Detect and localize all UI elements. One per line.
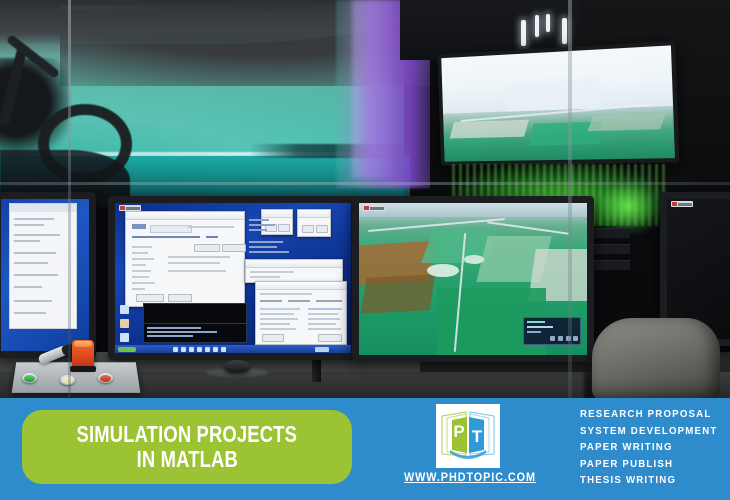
service-item-paper-writing: PAPER WRITING [580, 439, 718, 456]
desktop-text [249, 224, 275, 226]
left-desk-monitor: DELL [0, 192, 96, 358]
tree-item [132, 288, 145, 290]
text-line [168, 270, 226, 272]
text-line [14, 252, 56, 254]
phdtopic-logo: P T [436, 404, 500, 468]
text-line [14, 312, 46, 314]
left-monitor-window [9, 203, 77, 329]
start-button[interactable] [118, 347, 136, 352]
menu-item[interactable] [206, 236, 218, 238]
terminal-window [143, 303, 247, 325]
text-line [14, 300, 52, 302]
taskbar-item[interactable] [173, 347, 178, 352]
center-desk-monitor: DELL [108, 196, 358, 360]
window-titlebar [298, 210, 330, 218]
glass-partition-mullion [68, 0, 71, 400]
column-header [288, 300, 310, 302]
dialog-button[interactable] [222, 244, 246, 252]
dialog-button[interactable] [194, 244, 220, 252]
taskbar-item[interactable] [221, 347, 226, 352]
title-badge: SIMULATION PROJECTS IN MATLAB [22, 410, 352, 484]
app-window-main [125, 211, 245, 307]
dialog-title-text [260, 293, 312, 295]
text-line [168, 262, 220, 264]
glass-partition-rail [0, 182, 730, 185]
text-line [14, 286, 42, 288]
tree-item [132, 258, 154, 260]
svg-text:P: P [453, 422, 464, 441]
aerial-lake [427, 264, 459, 278]
text-line [14, 218, 54, 220]
desktop-text [249, 246, 277, 248]
table-row[interactable] [308, 328, 341, 330]
tree-item [132, 264, 146, 266]
table-row[interactable] [260, 323, 290, 325]
computer-mouse[interactable] [224, 360, 250, 373]
text-line [14, 240, 40, 242]
monitor-brand-label: DELL [463, 355, 482, 361]
aerial-lake [464, 255, 485, 264]
dialog-button[interactable] [316, 225, 328, 233]
system-tray[interactable] [315, 347, 329, 352]
taskbar-item[interactable] [213, 347, 218, 352]
text-line [250, 276, 280, 278]
hud-overlay-panel[interactable] [523, 317, 581, 345]
column-header [260, 300, 282, 302]
taskbar-item[interactable] [205, 347, 210, 352]
desktop-text [249, 241, 283, 243]
window-title-text [188, 226, 234, 228]
taskbar-item[interactable] [181, 347, 186, 352]
tree-item [132, 270, 151, 272]
monitor-sticker [119, 205, 141, 211]
cockpit-green-display-glow [600, 178, 662, 234]
taskbar-item[interactable] [189, 347, 194, 352]
text-line [14, 274, 58, 276]
toolbar-icon [132, 224, 146, 229]
text-line [250, 271, 294, 273]
tree-item [132, 276, 149, 278]
status-window [245, 259, 343, 283]
menu-bar [132, 236, 200, 238]
desktop-text [249, 219, 269, 221]
table-row[interactable] [260, 313, 294, 315]
desktop-icon[interactable] [120, 319, 129, 328]
lamp-icon [546, 14, 550, 32]
dialog-button[interactable] [136, 294, 164, 302]
wall-mounted-display [438, 41, 680, 166]
glass-partition-mullion [568, 0, 572, 400]
terminal-text [147, 335, 193, 337]
svg-text:T: T [472, 427, 483, 446]
table-row[interactable] [308, 313, 338, 315]
table-row[interactable] [260, 318, 298, 320]
desktop-icon[interactable] [120, 305, 129, 314]
text-line [14, 262, 48, 264]
aerial-road [487, 222, 569, 235]
hud-value [527, 326, 553, 328]
aerial-sky [359, 203, 587, 217]
text-line [14, 234, 60, 236]
hud-label [527, 321, 545, 323]
dialog-button[interactable] [168, 294, 192, 302]
aerial-field [360, 274, 435, 314]
column-header [316, 300, 342, 302]
dialog-button[interactable] [302, 225, 314, 233]
table-row[interactable] [260, 308, 300, 310]
search-input[interactable] [150, 225, 192, 233]
wall-monitor-field [588, 113, 666, 131]
bottom-banner: SIMULATION PROJECTS IN MATLAB P T [0, 398, 730, 500]
website-url-link[interactable]: WWW.PHDTOPIC.COM [395, 472, 545, 484]
window-titlebar [262, 210, 292, 218]
table-row[interactable] [308, 323, 336, 325]
hud-button[interactable] [558, 336, 563, 341]
emergency-stop-button[interactable] [72, 340, 94, 368]
service-item-research-proposal: RESEARCH PROPOSAL [580, 406, 718, 423]
dialog-window [297, 209, 331, 237]
tree-item [132, 282, 155, 284]
hud-button[interactable] [550, 336, 555, 341]
right-desk-monitor: DELL [352, 196, 594, 362]
table-row[interactable] [308, 308, 342, 310]
windows-taskbar[interactable] [115, 345, 351, 353]
window-titlebar [126, 212, 244, 220]
red-push-button[interactable] [98, 373, 113, 383]
right-monitor-screen [359, 203, 587, 355]
table-row[interactable] [308, 318, 340, 320]
window-titlebar [256, 282, 346, 290]
desktop-text [249, 251, 289, 253]
violet-light-core [352, 0, 394, 178]
center-monitor-screen [115, 203, 351, 353]
text-line [168, 256, 230, 258]
table-row[interactable] [260, 328, 296, 330]
terminal-window [143, 323, 247, 343]
lamp-icon [562, 18, 567, 44]
window-titlebar [10, 204, 76, 212]
left-monitor-screen [1, 199, 89, 351]
desktop-text [249, 229, 267, 231]
terminal-text [147, 331, 217, 333]
hud-button[interactable] [573, 336, 578, 341]
hud-value [527, 331, 541, 333]
monitor-sticker [671, 201, 693, 207]
title-line-1: SIMULATION PROJECTS [77, 422, 297, 447]
service-item-thesis-writing: THESIS WRITING [580, 472, 718, 489]
window-titlebar [246, 260, 342, 268]
dialog-button[interactable] [262, 334, 284, 342]
lamp-icon [535, 15, 539, 37]
services-list: RESEARCH PROPOSAL SYSTEM DEVELOPMENT PAP… [580, 406, 730, 489]
dialog-window [261, 209, 293, 235]
dialog-button[interactable] [318, 334, 342, 342]
tree-item [132, 252, 148, 254]
dialog-button[interactable] [278, 224, 290, 232]
green-push-button[interactable] [22, 373, 37, 383]
text-line [14, 224, 44, 226]
emergency-stop-cap [74, 341, 92, 347]
monitor-sticker [363, 205, 385, 211]
tree-item [132, 246, 152, 248]
desktop-icon[interactable] [120, 333, 129, 342]
office-chair [592, 318, 720, 400]
photo-simulator-control-room: DELL [0, 0, 730, 400]
screenshot-root: DELL [0, 0, 730, 500]
service-item-paper-publish: PAPER PUBLISH [580, 456, 718, 473]
terminal-text [147, 327, 201, 329]
service-item-system-development: SYSTEM DEVELOPMENT [580, 423, 718, 440]
wall-monitor-field [450, 120, 529, 139]
monitor-brand-label: DELL [223, 353, 242, 359]
properties-dialog [255, 281, 347, 345]
lamp-icon [521, 20, 526, 46]
title-line-2: IN MATLAB [136, 447, 237, 472]
taskbar-item[interactable] [197, 347, 202, 352]
